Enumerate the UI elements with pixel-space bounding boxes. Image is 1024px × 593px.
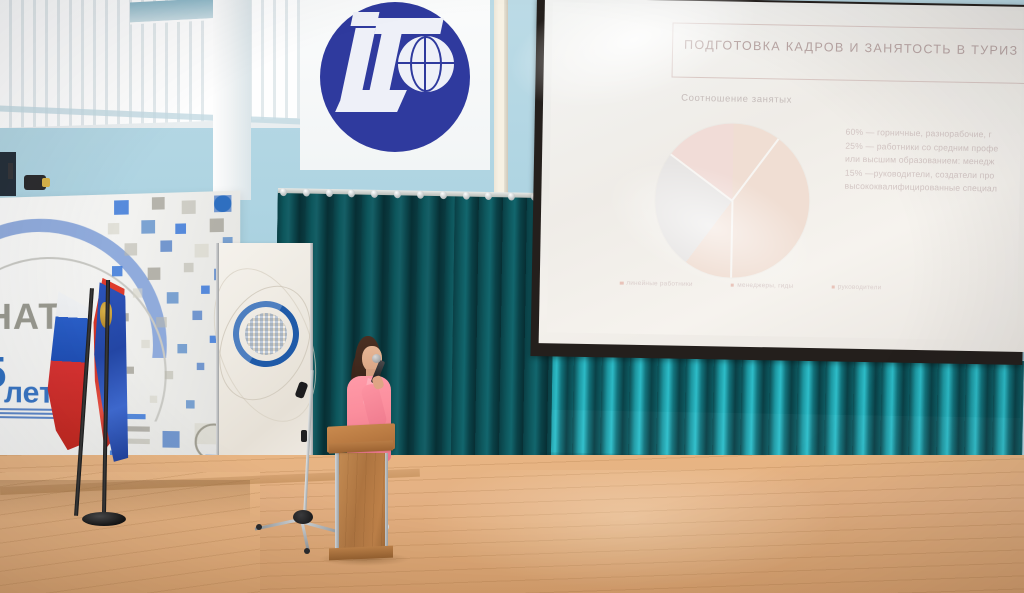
curtain-ring bbox=[303, 188, 310, 196]
curtain-ring bbox=[417, 191, 424, 199]
pie-separator bbox=[670, 154, 732, 202]
legend-swatch-icon bbox=[620, 281, 624, 285]
backdrop-text-primary: НАТ bbox=[0, 295, 62, 338]
microphone-stand-adjuster bbox=[301, 430, 307, 442]
podium-top-face bbox=[329, 440, 393, 453]
backdrop-square bbox=[186, 400, 195, 408]
backdrop-square bbox=[163, 431, 180, 448]
mic-stand-foot-cap bbox=[256, 524, 262, 530]
backdrop-square bbox=[141, 340, 149, 348]
curtain-ring bbox=[440, 191, 447, 199]
backdrop-square bbox=[177, 344, 187, 353]
curtain-ring bbox=[371, 190, 378, 198]
logo-swoosh bbox=[335, 90, 407, 112]
projection-screen: ПОДГОТОВКА КАДРОВ И ЗАНЯТОСТЬ В ТУРИЗ Со… bbox=[530, 0, 1024, 365]
backdrop-square bbox=[114, 200, 129, 215]
backdrop-square bbox=[125, 243, 138, 256]
legend-swatch-icon bbox=[731, 283, 735, 287]
backdrop-square bbox=[156, 317, 167, 327]
rollup-pole-left bbox=[216, 243, 219, 471]
podium-base bbox=[329, 546, 393, 561]
floor-light-reflection bbox=[420, 470, 840, 590]
rollup-pole-right bbox=[310, 243, 313, 471]
legend-item: менеджеры, гиды bbox=[731, 282, 794, 290]
rollup-grid-motif bbox=[245, 313, 287, 355]
legend-label: линейные работники bbox=[626, 280, 693, 288]
logo-icon bbox=[320, 2, 470, 152]
projected-slide: ПОДГОТОВКА КАДРОВ И ЗАНЯТОСТЬ В ТУРИЗ Со… bbox=[547, 2, 1023, 341]
backdrop-square bbox=[210, 218, 224, 232]
backdrop-stripes bbox=[0, 408, 60, 421]
backdrop-square bbox=[201, 286, 210, 294]
chart-legend: линейные работники менеджеры, гиды руков… bbox=[620, 280, 1020, 294]
slide-body-line: высококвалифицированные специал bbox=[844, 180, 1024, 197]
curtain-ring bbox=[326, 189, 333, 197]
legend-item: руководители bbox=[831, 283, 881, 291]
slide-body-text: 60% — горничные, разнорабочие, г 25% — р… bbox=[844, 126, 1024, 198]
backdrop-square bbox=[150, 396, 157, 403]
spotlight-arm bbox=[8, 163, 13, 179]
pie-separator bbox=[730, 201, 733, 278]
backdrop-square bbox=[167, 292, 179, 304]
slide-subtitle: Соотношение занятых bbox=[681, 93, 792, 106]
curtain-ring bbox=[348, 189, 355, 197]
backdrop-square bbox=[160, 240, 172, 252]
conference-hall-scene: ПОДГОТОВКА КАДРОВ И ЗАНЯТОСТЬ В ТУРИЗ Со… bbox=[0, 0, 1024, 593]
legend-label: руководители bbox=[838, 284, 882, 292]
backdrop-square bbox=[148, 267, 161, 280]
backdrop-square bbox=[108, 223, 119, 235]
wall-logo-panel bbox=[300, 0, 490, 170]
wall-column-left bbox=[213, 0, 251, 200]
backdrop-square bbox=[127, 367, 134, 374]
backdrop-square bbox=[192, 311, 202, 320]
wall-column-right-highlight bbox=[499, 0, 504, 200]
spotlight-icon bbox=[24, 175, 46, 190]
curtain-ring bbox=[485, 192, 492, 200]
rollup-banner bbox=[219, 243, 311, 465]
backdrop-square bbox=[125, 438, 150, 444]
legend-label: менеджеры, гиды bbox=[737, 282, 793, 290]
backdrop-square bbox=[197, 363, 205, 370]
pie-chart bbox=[654, 122, 811, 279]
flag-base bbox=[82, 512, 126, 526]
globe-meridian bbox=[410, 36, 442, 92]
backdrop-square bbox=[195, 244, 209, 258]
curtain-ring bbox=[508, 192, 515, 200]
mic-stand-foot-cap bbox=[304, 548, 310, 554]
backdrop-square bbox=[141, 220, 155, 234]
backdrop-square bbox=[112, 266, 122, 276]
curtain-ring bbox=[280, 188, 287, 196]
legend-swatch-icon bbox=[831, 285, 835, 289]
legend-item: линейные работники bbox=[620, 280, 693, 288]
backdrop-square bbox=[175, 223, 186, 234]
backdrop-text-secondary: лет bbox=[4, 376, 54, 411]
globe-icon bbox=[398, 36, 454, 92]
backdrop-square bbox=[165, 371, 174, 379]
projection-screen-surface: ПОДГОТОВКА КАДРОВ И ЗАНЯТОСТЬ В ТУРИЗ Со… bbox=[539, 0, 1024, 352]
microphone-stand-hub bbox=[293, 510, 313, 524]
curtain-ring bbox=[394, 190, 401, 198]
podium bbox=[327, 425, 395, 560]
curtain-ring bbox=[462, 192, 469, 200]
pie-separator bbox=[732, 139, 780, 201]
floor-shadow bbox=[0, 480, 250, 520]
backdrop-square bbox=[152, 197, 165, 210]
logo-i-dot bbox=[351, 12, 380, 26]
podium-wood-grain bbox=[339, 453, 385, 551]
backdrop-square bbox=[182, 200, 196, 214]
microphone-head-icon bbox=[372, 354, 381, 363]
backdrop-square bbox=[184, 263, 194, 273]
backdrop-square bbox=[133, 288, 142, 297]
